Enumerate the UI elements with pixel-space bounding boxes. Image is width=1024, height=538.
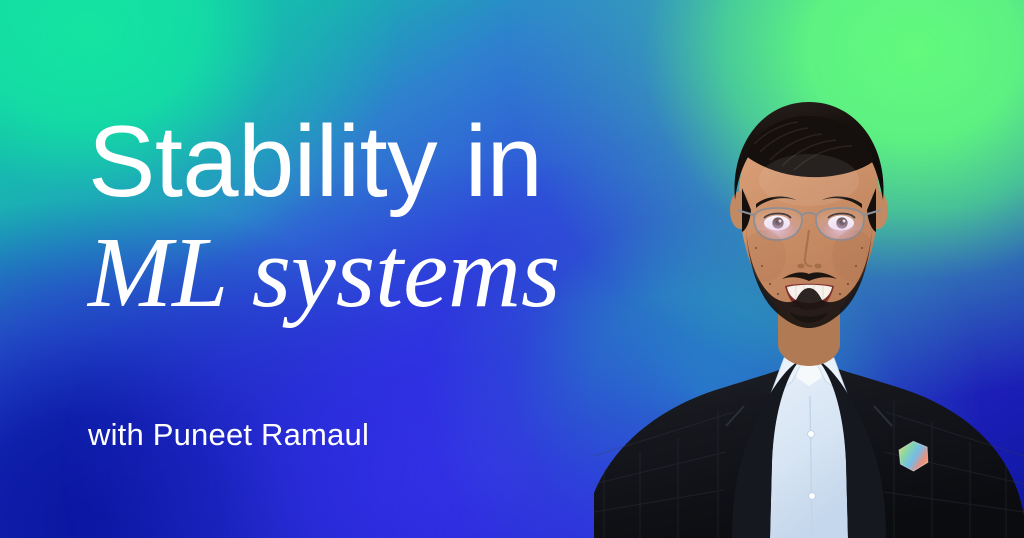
- webinar-promo-banner: Stability in ML systems with Puneet Rama…: [0, 0, 1024, 538]
- speaker-credit: with Puneet Ramaul: [88, 417, 369, 453]
- shirt-button: [808, 431, 815, 438]
- speaker-head: [730, 102, 888, 328]
- shirt-button: [809, 493, 816, 500]
- speaker-torso: [594, 348, 1024, 538]
- headline-block: Stability in ML systems: [88, 112, 688, 326]
- title-line-2: ML systems: [88, 219, 688, 326]
- title-line-1: Stability in: [88, 112, 688, 213]
